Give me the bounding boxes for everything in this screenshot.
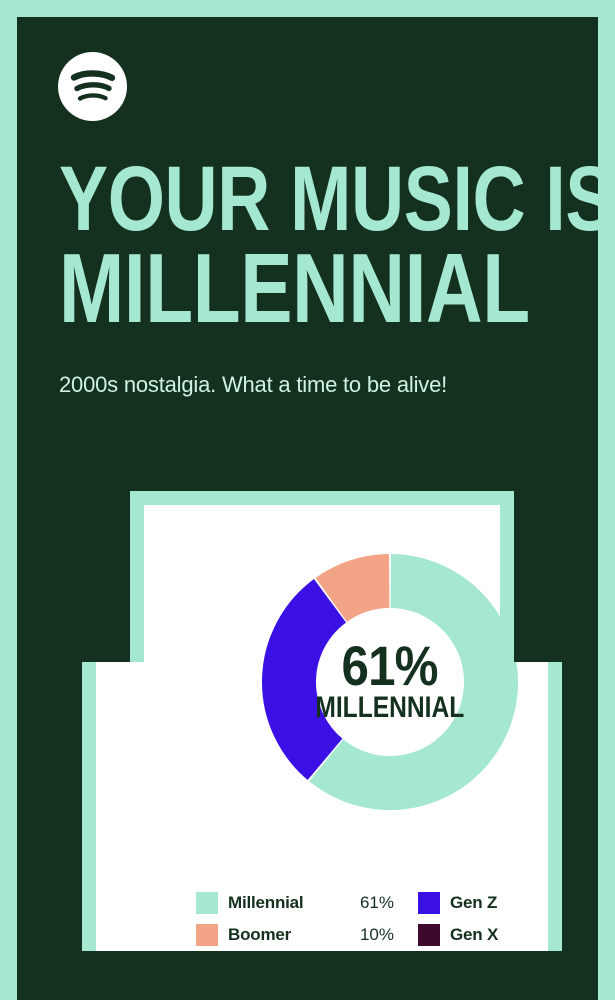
legend-value: 61% [360, 893, 394, 913]
legend-item[interactable]: Gen X 0% [418, 922, 598, 948]
legend-value: 0% [591, 925, 598, 945]
donut-slice-gen-z[interactable] [289, 601, 330, 760]
poster-card: YOUR MUSIC IS MILLENNIAL 2000s nostalgia… [17, 17, 598, 1000]
legend-swatch-icon [418, 892, 440, 914]
legend-swatch-icon [196, 924, 218, 946]
legend-value: 10% [360, 925, 394, 945]
legend-value: 29% [582, 893, 598, 913]
poster-root: YOUR MUSIC IS MILLENNIAL 2000s nostalgia… [0, 0, 615, 1000]
legend-item[interactable]: Gen Z 29% [418, 890, 598, 916]
chart-card-surface: 61% MILLENNIAL Millennial 61% Gen Z 29% [96, 505, 548, 951]
legend-item[interactable]: Millennial 61% [196, 890, 394, 916]
chart-card: 61% MILLENNIAL Millennial 61% Gen Z 29% [17, 491, 598, 951]
page-title: YOUR MUSIC IS MILLENNIAL [59, 157, 467, 334]
page-subtitle: 2000s nostalgia. What a time to be alive… [59, 372, 579, 398]
legend-swatch-icon [196, 892, 218, 914]
legend-swatch-icon [418, 924, 440, 946]
legend-label: Boomer [228, 925, 350, 945]
headline-line-1: YOUR MUSIC IS [59, 157, 467, 243]
donut-chart [235, 527, 545, 837]
donut-slice-boomer[interactable] [331, 581, 389, 600]
legend-item[interactable]: Boomer 10% [196, 922, 394, 948]
headline-line-2: MILLENNIAL [59, 243, 467, 334]
chart-legend: Millennial 61% Gen Z 29% Boomer 10% [196, 890, 598, 948]
spotify-logo [58, 52, 127, 121]
legend-label: Millennial [228, 893, 350, 913]
